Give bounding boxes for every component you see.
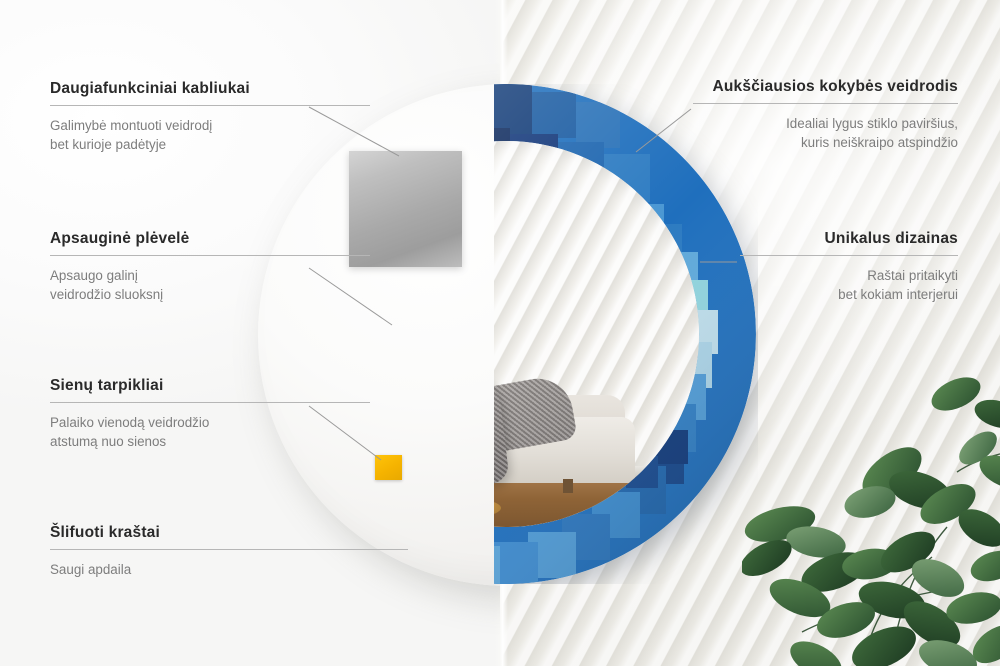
callout-rule [50, 549, 408, 550]
callout-unique-design: Unikalus dizainas Raštai pritaikyti bet … [612, 230, 958, 304]
callout-title: Šlifuoti kraštai [50, 524, 408, 542]
callout-title: Apsauginė plėvelė [50, 230, 370, 248]
sofa-reflection [494, 357, 699, 527]
callout-title: Sienų tarpikliai [50, 377, 370, 395]
callout-hooks: Daugiafunkciniai kabliukai Galimybė mont… [50, 80, 370, 154]
callout-rule [50, 402, 370, 403]
callout-rule [50, 105, 370, 106]
callout-description: Apsaugo galinį veidrodžio sluoksnį [50, 266, 370, 304]
callout-protective-film: Apsauginė plėvelė Apsaugo galinį veidrod… [50, 230, 370, 304]
plant-leaves [742, 352, 1000, 666]
sofa-leg [563, 479, 573, 493]
callout-title: Daugiafunkciniai kabliukai [50, 80, 370, 98]
callout-top-quality-mirror: Aukščiausios kokybės veidrodis Idealiai … [612, 78, 958, 152]
callout-description: Galimybė montuoti veidrodį bet kurioje p… [50, 116, 370, 154]
callout-title: Unikalus dizainas [612, 230, 958, 248]
finished-mirror-wrap [494, 84, 758, 584]
callout-title: Aukščiausios kokybės veidrodis [612, 78, 958, 96]
callout-rule [693, 103, 958, 104]
callout-rule [740, 255, 958, 256]
callout-description: Palaiko vienodą veidrodžio atstumą nuo s… [50, 413, 370, 451]
callout-description: Saugi apdaila [50, 560, 408, 579]
callout-description: Raštai pritaikyti bet kokiam interjerui [612, 266, 958, 304]
infographic-canvas: Daugiafunkciniai kabliukai Galimybė mont… [0, 0, 1000, 666]
callout-wall-spacers: Sienų tarpikliai Palaiko vienodą veidrod… [50, 377, 370, 451]
callout-description: Idealiai lygus stiklo paviršius, kuris n… [612, 114, 958, 152]
callout-ground-edges: Šlifuoti kraštai Saugi apdaila [50, 524, 408, 579]
mirror-glass [494, 141, 699, 527]
finished-mirror [494, 84, 756, 584]
wall-spacer-icon [375, 455, 402, 480]
callout-rule [50, 255, 370, 256]
